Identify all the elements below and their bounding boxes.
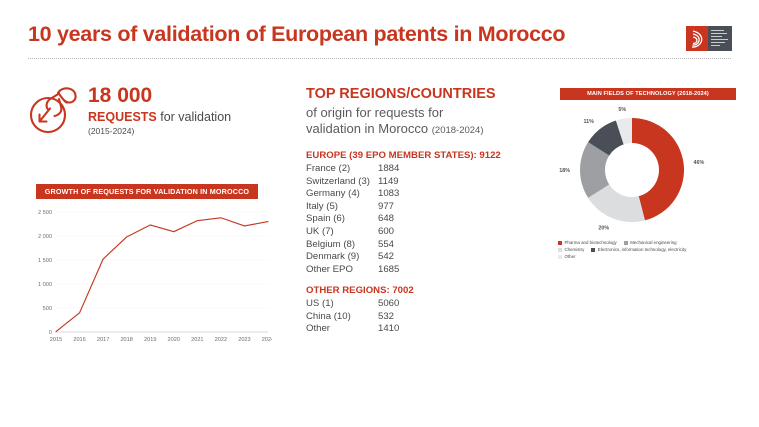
x-tick-label: 2022 xyxy=(215,337,227,343)
row-label: China (10) xyxy=(306,311,378,324)
y-tick-label: 2 000 xyxy=(38,234,52,240)
list-row: Italy (5)977 xyxy=(306,201,526,214)
row-label: Other xyxy=(306,323,378,336)
row-label: US (1) xyxy=(306,298,378,311)
y-tick-label: 500 xyxy=(43,306,52,312)
page-header: 10 years of validation of European paten… xyxy=(0,0,759,62)
list-row: China (10)532 xyxy=(306,311,526,324)
x-tick-label: 2016 xyxy=(73,337,85,343)
y-tick-label: 1 000 xyxy=(38,282,52,288)
stamp-check-icon xyxy=(26,84,84,136)
row-label: Switzerland (3) xyxy=(306,176,378,189)
legend-swatch xyxy=(558,248,562,252)
legend-row: Other xyxy=(558,254,754,259)
list-row: Germany (4)1083 xyxy=(306,188,526,201)
donut-value-label: 20% xyxy=(598,226,609,232)
x-tick-label: 2015 xyxy=(50,337,62,343)
row-value: 542 xyxy=(378,251,394,264)
row-label: Belgium (8) xyxy=(306,239,378,252)
chart-series-line xyxy=(56,218,268,332)
legend-swatch xyxy=(624,241,628,245)
legend-label: Electronics, information technology, ele… xyxy=(598,247,687,252)
legend-label: Chemistry xyxy=(565,247,585,252)
left-column: 18 000 REQUESTS for validation (2015-202… xyxy=(0,62,292,362)
growth-line-chart: 05001 0001 5002 0002 500 201520162017201… xyxy=(22,204,272,354)
subheading-period: (2018-2024) xyxy=(432,125,484,136)
legend-row: ChemistryElectronics, information techno… xyxy=(558,247,754,252)
row-label: Other EPO xyxy=(306,264,378,277)
row-value: 554 xyxy=(378,239,394,252)
europe-country-list: France (2)1884Switzerland (3)1149Germany… xyxy=(306,163,526,276)
list-row: Spain (6)648 xyxy=(306,213,526,226)
chart-x-axis-labels: 2015201620172018201920202021202220232024 xyxy=(50,337,272,343)
y-tick-label: 0 xyxy=(49,330,52,336)
row-value: 1149 xyxy=(378,176,399,189)
page-title: 10 years of validation of European paten… xyxy=(28,22,565,47)
list-row: Other EPO1685 xyxy=(306,264,526,277)
header-divider xyxy=(28,58,731,60)
growth-chart-title: GROWTH OF REQUESTS FOR VALIDATION IN MOR… xyxy=(36,184,258,199)
list-row: US (1)5060 xyxy=(306,298,526,311)
legend-label: Pharma and biotechnology xyxy=(565,240,617,245)
legend-item: Other xyxy=(558,254,575,259)
legend-item: Mechanical engineering xyxy=(624,240,677,245)
x-tick-label: 2019 xyxy=(144,337,156,343)
donut-chart-title: MAIN FIELDS OF TECHNOLOGY (2018-2024) xyxy=(560,88,736,100)
list-row: UK (7)600 xyxy=(306,226,526,239)
donut-value-label: 5% xyxy=(618,107,626,113)
row-value: 532 xyxy=(378,311,394,324)
donut-slices xyxy=(580,118,684,222)
kpi-period: (2015-2024) xyxy=(88,126,134,136)
x-tick-label: 2017 xyxy=(97,337,109,343)
y-tick-label: 2 500 xyxy=(38,210,52,216)
legend-item: Electronics, information technology, ele… xyxy=(591,247,686,252)
row-value: 600 xyxy=(378,226,394,239)
row-label: Italy (5) xyxy=(306,201,378,214)
subheading-line1: of origin for requests for xyxy=(306,105,443,120)
top-regions-heading: TOP REGIONS/COUNTRIES xyxy=(306,86,496,102)
list-row: Belgium (8)554 xyxy=(306,239,526,252)
epo-logo-wordmark xyxy=(708,26,732,51)
list-row: Other1410 xyxy=(306,323,526,336)
legend-row: Pharma and biotechnologyMechanical engin… xyxy=(558,240,754,245)
list-row: Switzerland (3)1149 xyxy=(306,176,526,189)
top-regions-subheading: of origin for requests for validation in… xyxy=(306,105,536,138)
epo-logo xyxy=(686,26,732,51)
row-label: Denmark (9) xyxy=(306,251,378,264)
middle-column: TOP REGIONS/COUNTRIES of origin for requ… xyxy=(306,62,536,362)
row-value: 977 xyxy=(378,201,394,214)
row-value: 1884 xyxy=(378,163,399,176)
growth-chart-card: GROWTH OF REQUESTS FOR VALIDATION IN MOR… xyxy=(22,184,272,356)
other-regions-heading: OTHER REGIONS: 7002 xyxy=(306,285,414,296)
donut-value-label: 46% xyxy=(694,160,705,166)
row-value: 1083 xyxy=(378,188,399,201)
row-label: Spain (6) xyxy=(306,213,378,226)
europe-section-heading: EUROPE (39 EPO MEMBER STATES): 9122 xyxy=(306,150,501,161)
other-regions-list: US (1)5060China (10)532Other1410 xyxy=(306,298,526,336)
chart-y-axis-labels: 05001 0001 5002 0002 500 xyxy=(38,210,52,336)
kpi-caption: REQUESTS for validation xyxy=(88,110,231,124)
x-tick-label: 2021 xyxy=(191,337,203,343)
list-row: France (2)1884 xyxy=(306,163,526,176)
x-tick-label: 2023 xyxy=(238,337,250,343)
donut-value-label: 18% xyxy=(559,168,570,174)
y-tick-label: 1 500 xyxy=(38,258,52,264)
row-value: 1685 xyxy=(378,264,399,277)
donut-chart-wrap: 46%20%18%11%5% xyxy=(554,104,750,239)
legend-swatch xyxy=(558,241,562,245)
legend-label: Mechanical engineering xyxy=(630,240,676,245)
legend-label: Other xyxy=(565,254,576,259)
row-value: 1410 xyxy=(378,323,399,336)
row-value: 5060 xyxy=(378,298,399,311)
donut-value-label: 11% xyxy=(583,119,594,125)
row-label: UK (7) xyxy=(306,226,378,239)
legend-swatch xyxy=(591,248,595,252)
subheading-line2: validation in Morocco xyxy=(306,121,428,136)
donut-chart-legend: Pharma and biotechnologyMechanical engin… xyxy=(558,240,754,261)
epo-logo-spiral-icon xyxy=(686,26,708,51)
kpi-caption-rest: for validation xyxy=(157,110,231,124)
legend-item: Pharma and biotechnology xyxy=(558,240,617,245)
row-value: 648 xyxy=(378,213,394,226)
x-tick-label: 2024 xyxy=(262,337,272,343)
x-tick-label: 2018 xyxy=(120,337,132,343)
legend-item: Chemistry xyxy=(558,247,584,252)
row-label: Germany (4) xyxy=(306,188,378,201)
list-row: Denmark (9)542 xyxy=(306,251,526,264)
technology-fields-donut-chart: 46%20%18%11%5% xyxy=(554,104,750,239)
legend-swatch xyxy=(558,255,562,259)
right-column: MAIN FIELDS OF TECHNOLOGY (2018-2024) 46… xyxy=(546,62,759,362)
row-label: France (2) xyxy=(306,163,378,176)
x-tick-label: 2020 xyxy=(168,337,180,343)
kpi-caption-strong: REQUESTS xyxy=(88,110,157,124)
kpi-number: 18 000 xyxy=(88,84,152,108)
